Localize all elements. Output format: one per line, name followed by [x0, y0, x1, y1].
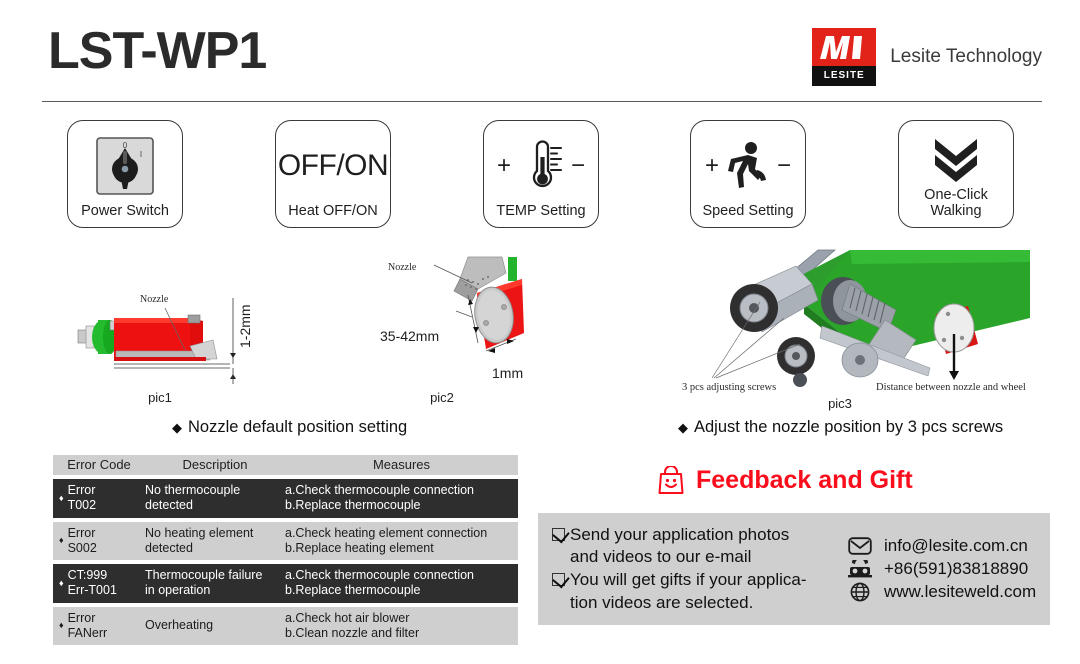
row-desc-line1: Overheating: [145, 618, 213, 633]
checkbox-checked-icon: [552, 573, 565, 586]
row-code-line2: FANerr: [68, 626, 108, 640]
row-desc-line1: No thermocouple: [145, 483, 240, 497]
feature-speed-setting[interactable]: + − Speed Setting: [690, 120, 806, 228]
pic3-distance-label: Distance between nozzle and wheel: [876, 382, 1026, 393]
row-desc-line1: Thermocouple failure: [145, 568, 262, 582]
pic1-dimension: 1-2mm: [237, 304, 253, 348]
running-person-icon: [727, 140, 769, 192]
temp-minus-button[interactable]: −: [571, 154, 585, 178]
feedback-box: Send your application photosand videos t…: [538, 513, 1050, 625]
pic2-nozzle-label: Nozzle: [388, 262, 416, 273]
thermometer-icon: [519, 139, 563, 193]
row-code-line2: T002: [68, 498, 97, 512]
contact-email-value: info@lesite.com.cn: [884, 536, 1028, 556]
feature-power-switch[interactable]: 0 I Power Switch: [67, 120, 183, 228]
feedback-title: Feedback and Gift: [696, 466, 913, 495]
temp-plus-button[interactable]: +: [497, 154, 511, 178]
table-row: ♦ ErrorFANerr Overheating a.Check hot ai…: [53, 607, 518, 646]
feedback-item-2-line1: You will get gifts if your applica-: [570, 570, 807, 589]
header-measures: Measures: [285, 455, 518, 475]
feature-one-click-walking[interactable]: One-Click Walking: [898, 120, 1014, 228]
feature-one-click-walking-label: One-Click Walking: [924, 187, 988, 219]
row-desc-line1: No heating element: [145, 526, 253, 540]
feature-temp-setting-label: TEMP Setting: [496, 203, 585, 219]
contact-phone-value: +86(591)83818890: [884, 559, 1028, 579]
pic2-dimension-left: 35-42mm: [380, 328, 439, 344]
contact-email[interactable]: info@lesite.com.cn: [848, 536, 1050, 556]
pic3-screws-label: 3 pcs adjusting screws: [682, 382, 776, 393]
envelope-icon: [848, 537, 872, 555]
row-measures-line1: a.Check hot air blower: [285, 611, 409, 625]
checkbox-checked-icon: [552, 528, 565, 541]
table-header-row: Error Code Description Measures: [53, 455, 518, 475]
row-code-line1: CT:999: [68, 568, 108, 582]
row-code-line1: Error: [68, 611, 96, 625]
feedback-item-1-line1: Send your application photos: [570, 525, 789, 544]
lesite-logo-icon: LESITE: [812, 28, 876, 86]
feature-heat-offon-label: Heat OFF/ON: [288, 203, 377, 219]
contact-list: info@lesite.com.cn +86(591)83818890: [838, 533, 1050, 605]
row-desc-line2: detected: [145, 498, 193, 512]
rotary-power-switch-icon: 0 I: [74, 130, 176, 203]
note-right: ◆Adjust the nozzle position by 3 pcs scr…: [678, 418, 1003, 437]
svg-text:I: I: [140, 150, 142, 159]
logo-glyph-icon: [812, 28, 876, 66]
offon-text: OFF/ON: [278, 149, 388, 183]
table-row: ♦ CT:999Err-T001 Thermocouple failurein …: [53, 564, 518, 603]
feedback-item-2: You will get gifts if your applica-tion …: [552, 569, 838, 614]
row-desc-line2: detected: [145, 541, 193, 555]
telephone-icon: [848, 560, 872, 578]
row-measures-line1: a.Check thermocouple connection: [285, 483, 474, 497]
pic1-nozzle-label: Nozzle: [140, 294, 168, 305]
speed-plus-button[interactable]: +: [705, 154, 719, 178]
header-description: Description: [145, 455, 285, 475]
brand-lockup: LESITE Lesite Technology: [812, 28, 1042, 86]
contact-phone[interactable]: +86(591)83818890: [848, 559, 1050, 579]
row-bullet: ♦: [59, 579, 64, 588]
globe-icon: [848, 582, 872, 602]
row-code-line1: Error: [68, 526, 96, 540]
feature-speed-setting-label: Speed Setting: [702, 203, 793, 219]
product-info-sheet: LST-WP1 LESITE Lesite Technology 0 I: [0, 0, 1080, 664]
table-row: ♦ ErrorS002 No heating elementdetected a…: [53, 522, 518, 561]
row-bullet: ♦: [59, 536, 64, 545]
row-bullet: ♦: [59, 494, 64, 503]
pic1-caption: pic1: [120, 390, 200, 405]
row-desc-line2: in operation: [145, 583, 210, 597]
note-right-text: Adjust the nozzle position by 3 pcs scre…: [694, 418, 1003, 436]
pic3-illustration: [700, 248, 1040, 388]
logo-banner-text: LESITE: [812, 66, 876, 86]
row-code-line2: S002: [68, 541, 97, 555]
contact-website-value: www.lesiteweld.com: [884, 582, 1036, 602]
row-bullet: ♦: [59, 621, 64, 630]
pic2-dimension-bottom: 1mm: [492, 365, 523, 381]
note-left-text: Nozzle default position setting: [188, 418, 407, 436]
pic2-illustration: [420, 255, 550, 385]
table-row: ♦ ErrorT002 No thermocoupledetected a.Ch…: [53, 479, 518, 518]
header-divider: [42, 101, 1042, 102]
note-left: ◆Nozzle default position setting: [172, 418, 407, 437]
gift-bag-smiley-icon: [657, 466, 685, 495]
page-title: LST-WP1: [48, 25, 266, 77]
feature-heat-offon[interactable]: OFF/ON Heat OFF/ON: [275, 120, 391, 228]
note-left-bullet: ◆: [172, 420, 182, 435]
row-code-line2: Err-T001: [68, 583, 117, 597]
walk-label-line2: Walking: [930, 203, 981, 219]
error-code-table: Error Code Description Measures ♦ ErrorT…: [53, 455, 518, 649]
double-chevron-down-icon: [905, 130, 1007, 187]
feature-power-switch-label: Power Switch: [81, 203, 169, 219]
feedback-item-1-line2: and videos to our e-mail: [570, 547, 751, 566]
pic3-caption: pic3: [800, 396, 880, 411]
feedback-items: Send your application photosand videos t…: [538, 524, 838, 614]
row-measures-line1: a.Check heating element connection: [285, 526, 487, 540]
feedback-heading: Feedback and Gift: [657, 466, 913, 495]
feedback-item-1: Send your application photosand videos t…: [552, 524, 838, 569]
header-error-code: Error Code: [53, 455, 145, 475]
pic2-caption: pic2: [402, 390, 482, 405]
row-code-line1: Error: [68, 483, 96, 497]
speed-minus-button[interactable]: −: [777, 154, 791, 178]
row-measures-line2: b.Replace heating element: [285, 541, 434, 555]
note-right-bullet: ◆: [678, 420, 688, 435]
row-measures-line1: a.Check thermocouple connection: [285, 568, 474, 582]
brand-name: Lesite Technology: [890, 46, 1042, 68]
row-measures-line2: b.Replace thermocouple: [285, 583, 421, 597]
row-measures-line2: b.Clean nozzle and filter: [285, 626, 419, 640]
walk-label-line1: One-Click: [924, 187, 988, 203]
feedback-item-2-line2: tion videos are selected.: [570, 593, 753, 612]
row-measures-line2: b.Replace thermocouple: [285, 498, 421, 512]
contact-website[interactable]: www.lesiteweld.com: [848, 582, 1050, 602]
feature-temp-setting[interactable]: + − TEMP Setting: [483, 120, 599, 228]
